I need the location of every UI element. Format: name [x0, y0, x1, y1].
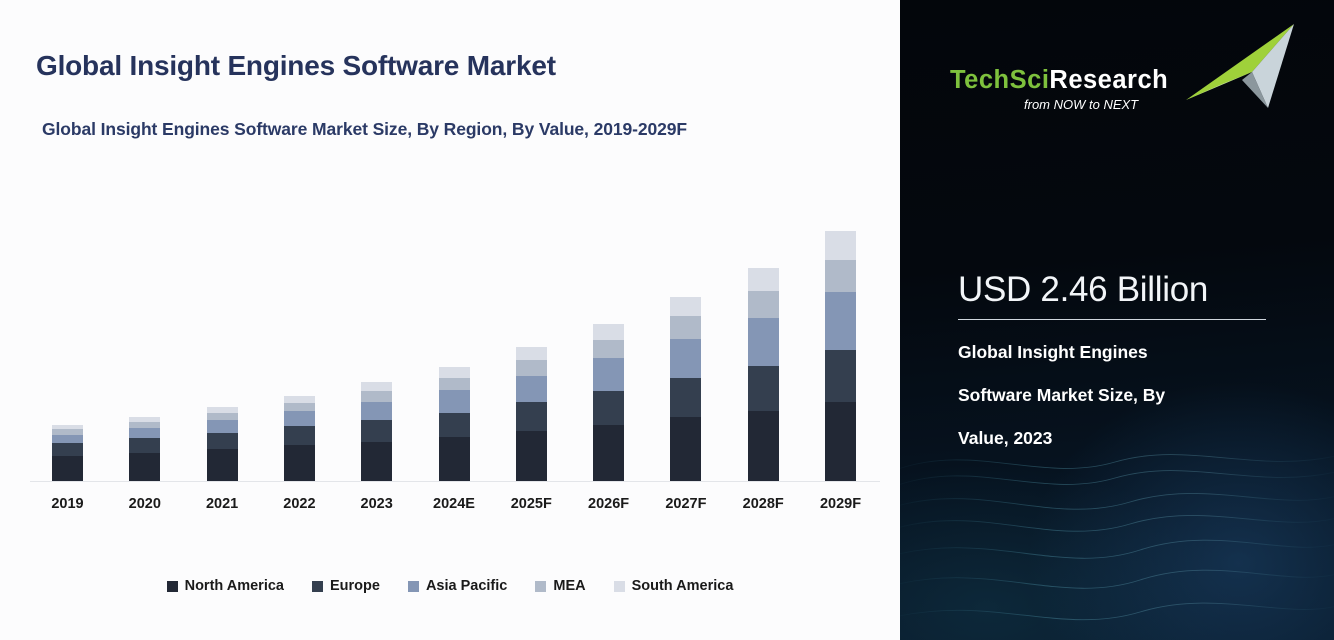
legend-swatch — [614, 581, 625, 592]
highlight-callout: USD 2.46 Billion Global Insight Engines … — [958, 270, 1288, 449]
bar-segment-north-america — [361, 442, 392, 481]
bar-segment-europe — [516, 402, 547, 431]
bar-segment-europe — [825, 350, 856, 402]
bar-segment-europe — [284, 426, 315, 445]
chart-panel: Global Insight Engines Software Market G… — [0, 0, 900, 640]
x-tick-2028F: 2028F — [733, 496, 793, 512]
legend-item-asia-pacific: Asia Pacific — [408, 578, 507, 594]
bar-segment-south-america — [593, 324, 624, 340]
bar-segment-europe — [207, 433, 238, 450]
bar-2024E — [439, 367, 470, 481]
bar-segment-north-america — [207, 449, 238, 481]
bar-segment-north-america — [748, 411, 779, 482]
legend-item-north-america: North America — [167, 578, 284, 594]
chart-legend: North AmericaEuropeAsia PacificMEASouth … — [0, 578, 900, 594]
bar-segment-south-america — [825, 231, 856, 260]
bar-segment-mea — [593, 340, 624, 358]
bar-segment-europe — [52, 443, 83, 456]
bar-segment-asia-pacific — [670, 339, 701, 379]
bar-2028F — [748, 268, 779, 481]
logo-tagline: from NOW to NEXT — [1024, 97, 1138, 112]
bar-segment-south-america — [748, 268, 779, 292]
bar-segment-asia-pacific — [748, 318, 779, 366]
market-value-figure: USD 2.46 Billion — [958, 270, 1288, 310]
x-tick-2020: 2020 — [115, 496, 175, 512]
bar-segment-mea — [670, 316, 701, 338]
legend-item-mea: MEA — [535, 578, 585, 594]
legend-swatch — [312, 581, 323, 592]
highlight-panel: TechSciResearch from NOW to NEXT USD 2.4… — [900, 0, 1334, 640]
infographic-page: Global Insight Engines Software Market G… — [0, 0, 1334, 640]
bar-segment-mea — [284, 403, 315, 411]
bar-segment-europe — [593, 391, 624, 425]
brand-logo: TechSciResearch from NOW to NEXT — [928, 22, 1306, 118]
bar-2019 — [52, 425, 83, 481]
legend-swatch — [408, 581, 419, 592]
bar-segment-mea — [439, 378, 470, 390]
legend-swatch — [535, 581, 546, 592]
bar-segment-europe — [748, 366, 779, 411]
bar-segment-europe — [670, 378, 701, 417]
bar-segment-south-america — [284, 396, 315, 403]
bar-segment-asia-pacific — [284, 411, 315, 426]
stacked-bar-chart — [30, 170, 880, 482]
bar-segment-north-america — [670, 417, 701, 481]
bar-segment-mea — [207, 413, 238, 420]
bar-segment-mea — [361, 391, 392, 401]
bar-segment-asia-pacific — [129, 428, 160, 438]
bar-segment-asia-pacific — [439, 390, 470, 412]
callout-line-3: Value, 2023 — [958, 428, 1288, 449]
bar-segment-south-america — [516, 347, 547, 360]
legend-label: Asia Pacific — [426, 578, 507, 594]
x-axis-line — [30, 481, 880, 482]
callout-line-1: Global Insight Engines — [958, 342, 1288, 363]
callout-line-2: Software Market Size, By — [958, 385, 1288, 406]
bar-segment-north-america — [593, 425, 624, 481]
page-title: Global Insight Engines Software Market — [36, 50, 556, 82]
legend-item-south-america: South America — [614, 578, 734, 594]
legend-item-europe: Europe — [312, 578, 380, 594]
bar-segment-asia-pacific — [207, 420, 238, 432]
bar-segment-europe — [439, 413, 470, 438]
bar-segment-north-america — [52, 456, 83, 481]
callout-divider — [958, 319, 1266, 320]
x-tick-2026F: 2026F — [579, 496, 639, 512]
bar-segment-asia-pacific — [516, 376, 547, 403]
bar-segment-south-america — [439, 367, 470, 378]
bar-segment-south-america — [670, 297, 701, 317]
bar-2023 — [361, 382, 392, 481]
bar-segment-mea — [825, 260, 856, 292]
bar-2020 — [129, 417, 160, 481]
x-tick-2019: 2019 — [38, 496, 98, 512]
x-tick-2025F: 2025F — [501, 496, 561, 512]
x-tick-2023: 2023 — [347, 496, 407, 512]
bar-2025F — [516, 347, 547, 481]
bar-segment-mea — [516, 360, 547, 375]
bar-segment-north-america — [825, 402, 856, 481]
bar-2021 — [207, 407, 238, 481]
bar-segment-asia-pacific — [593, 358, 624, 391]
bar-2029F — [825, 231, 856, 481]
logo-research-text: Research — [1049, 66, 1168, 94]
logo-tech-text: TechSci — [950, 66, 1049, 94]
paper-plane-arrow-icon — [1182, 22, 1302, 108]
bar-segment-north-america — [129, 453, 160, 481]
bar-segment-north-america — [439, 437, 470, 481]
x-tick-2021: 2021 — [192, 496, 252, 512]
legend-swatch — [167, 581, 178, 592]
bar-segment-mea — [748, 291, 779, 318]
x-tick-2024E: 2024E — [424, 496, 484, 512]
x-tick-2027F: 2027F — [656, 496, 716, 512]
chart-subtitle: Global Insight Engines Software Market S… — [42, 119, 687, 140]
legend-label: Europe — [330, 578, 380, 594]
bar-2022 — [284, 396, 315, 481]
logo-wordmark: TechSciResearch — [950, 66, 1168, 95]
x-tick-2022: 2022 — [269, 496, 329, 512]
legend-label: South America — [632, 578, 734, 594]
bar-segment-south-america — [361, 382, 392, 391]
bar-segment-asia-pacific — [361, 402, 392, 420]
legend-label: North America — [185, 578, 284, 594]
bar-segment-europe — [129, 438, 160, 453]
bar-segment-asia-pacific — [52, 435, 83, 444]
legend-label: MEA — [553, 578, 585, 594]
bar-segment-north-america — [284, 445, 315, 481]
bar-segment-asia-pacific — [825, 292, 856, 350]
bar-segment-north-america — [516, 431, 547, 481]
bar-2026F — [593, 324, 624, 481]
bar-segment-europe — [361, 420, 392, 442]
x-axis-tick-labels: 201920202021202220232024E2025F2026F2027F… — [30, 496, 880, 520]
bar-2027F — [670, 297, 701, 481]
x-tick-2029F: 2029F — [811, 496, 871, 512]
